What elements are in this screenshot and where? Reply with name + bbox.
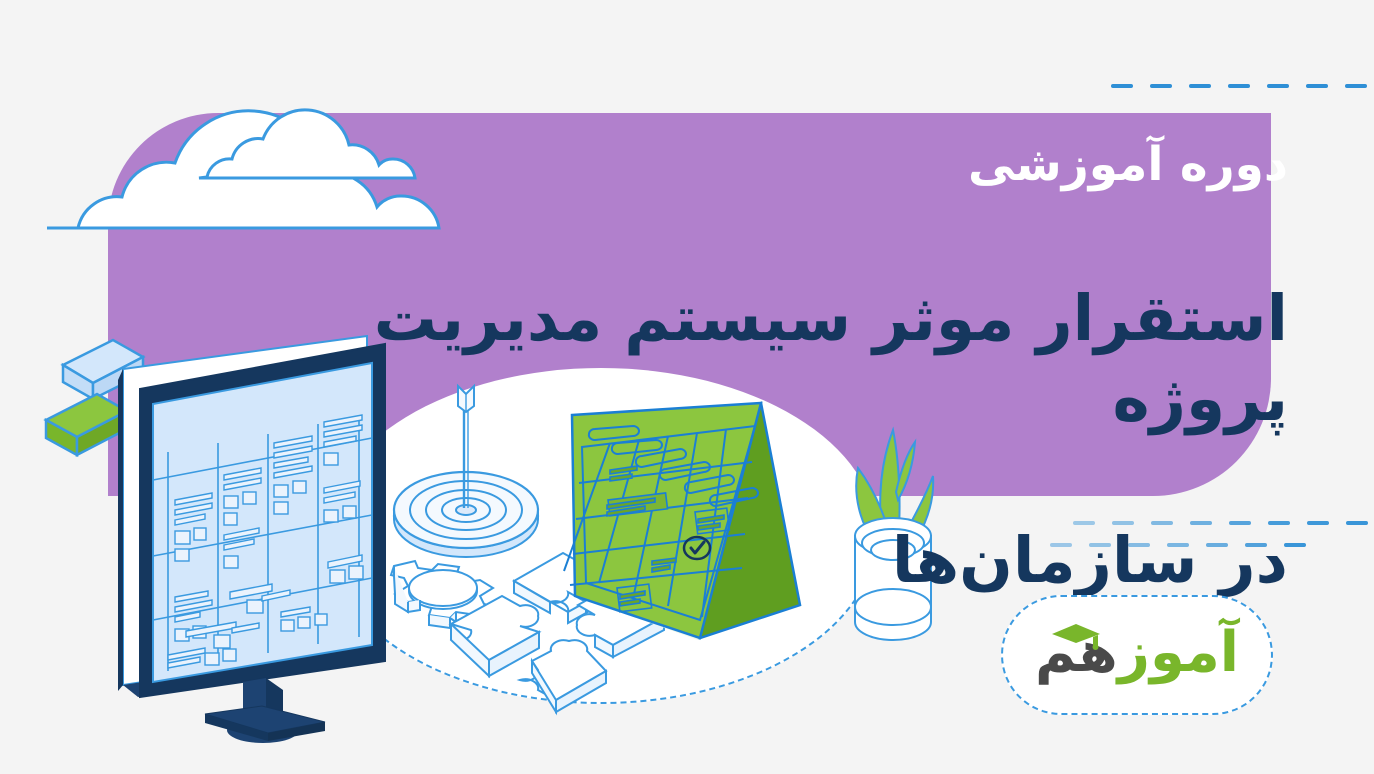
graduation-cap-icon xyxy=(1049,621,1103,651)
dash xyxy=(1306,84,1328,88)
dash xyxy=(1345,84,1367,88)
banner-kicker: دوره آموزشی xyxy=(228,138,1288,192)
banner-headline-line-1: استقرار موثر سیستم مدیریت پروژه xyxy=(228,279,1288,440)
dash xyxy=(1228,84,1250,88)
brand-logo-green-part: آموز xyxy=(1118,620,1239,685)
brand-logo-text: آموزهم xyxy=(1035,625,1239,681)
dash xyxy=(1267,84,1289,88)
decorative-dashes-top-right xyxy=(1111,84,1374,88)
dash xyxy=(1307,521,1329,525)
dash xyxy=(1346,521,1368,525)
banner-headline-line-2: در سازمان‌ها xyxy=(228,521,1288,602)
dash xyxy=(1189,84,1211,88)
banner-canvas: دوره آموزشی استقرار موثر سیستم مدیریت پر… xyxy=(0,0,1374,774)
brand-logo-badge[interactable]: آموزهم xyxy=(1001,595,1273,715)
dash xyxy=(1111,84,1133,88)
dash xyxy=(1150,84,1172,88)
